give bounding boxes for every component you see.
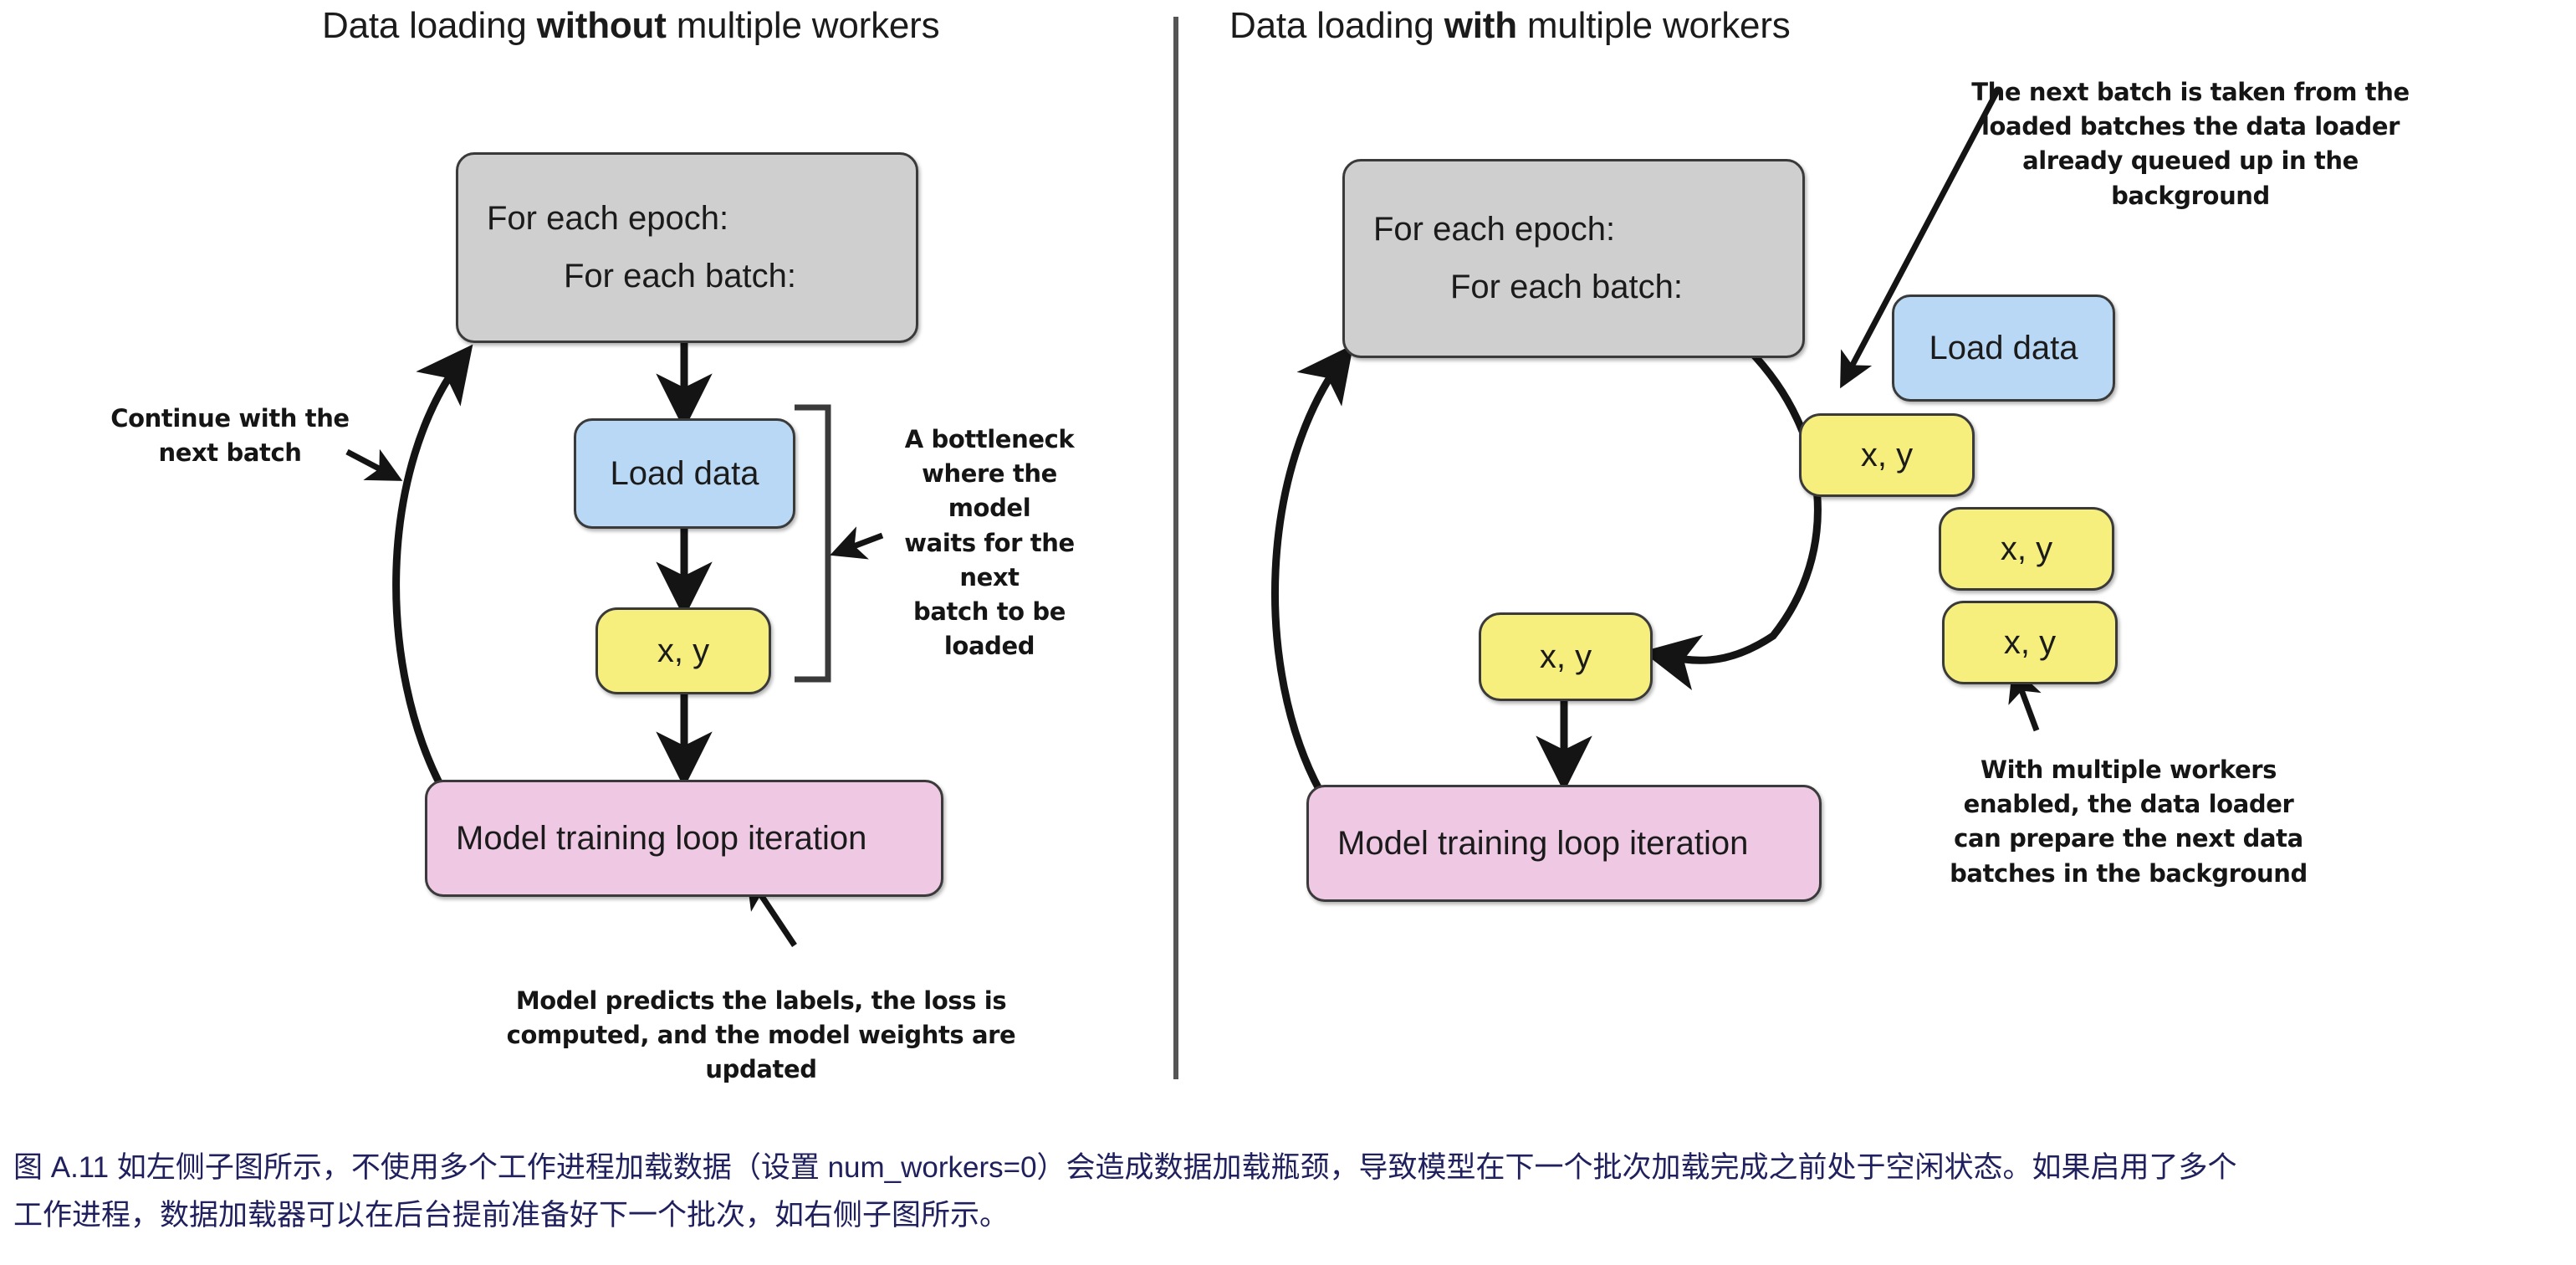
panel-title-right: Data loading with multiple workers <box>1229 5 1791 47</box>
right-queued-batch-box-1: x, y <box>1799 413 1975 497</box>
left-train-box: Model training loop iteration <box>425 780 943 897</box>
panel-title-left-suffix: multiple workers <box>667 5 940 46</box>
right-queued-batch-box-2: x, y <box>1939 507 2114 591</box>
right-train-box: Model training loop iteration <box>1306 785 1822 902</box>
right-annotation-workers: With multiple workers enabled, the data … <box>1932 753 2325 891</box>
right-queued-batch-label-1: x, y <box>1861 437 1913 474</box>
bottleneck-bracket <box>795 407 828 679</box>
left-train-label: Model training loop iteration <box>456 820 866 858</box>
left-annotation-bottleneck: A bottleneck where the model waits for t… <box>893 423 1086 663</box>
right-loop-line-batch: For each batch: <box>1373 269 1774 306</box>
arrow-continue-loop <box>396 356 464 791</box>
right-active-batch-label: x, y <box>1540 638 1592 676</box>
right-train-label: Model training loop iteration <box>1337 825 1748 863</box>
right-annotation-next-batch: The next batch is taken from the loaded … <box>1949 75 2432 213</box>
panel-title-left-prefix: Data loading <box>322 5 537 46</box>
right-loop-line-epoch: For each epoch: <box>1373 211 1774 248</box>
arrow-bottleneck-label <box>838 535 882 552</box>
right-load-data-label: Load data <box>1929 330 2078 367</box>
arrow-continue-label <box>347 452 395 477</box>
left-batch-label: x, y <box>657 632 709 670</box>
right-active-batch-box: x, y <box>1479 612 1653 701</box>
panel-title-right-prefix: Data loading <box>1229 5 1444 46</box>
right-load-data-box: Load data <box>1892 294 2115 402</box>
panel-title-left: Data loading without multiple workers <box>322 5 939 47</box>
figure-caption-line-1: 图 A.11 如左侧子图所示，不使用多个工作进程加载数据（设置 num_work… <box>13 1145 2566 1192</box>
figure-caption: 图 A.11 如左侧子图所示，不使用多个工作进程加载数据（设置 num_work… <box>13 1145 2566 1239</box>
left-load-data-label: Load data <box>611 455 759 493</box>
right-queued-batch-label-3: x, y <box>2004 624 2056 662</box>
panel-title-right-emphasis: with <box>1444 5 1517 46</box>
left-load-data-box: Load data <box>574 418 795 529</box>
left-loop-line-epoch: For each epoch: <box>487 200 887 238</box>
left-annotation-continue: Continue with the next batch <box>109 402 351 470</box>
right-loop-box: For each epoch: For each batch: <box>1342 159 1805 358</box>
left-annotation-predict: Model predicts the labels, the loss is c… <box>452 984 1071 1088</box>
right-queued-batch-label-2: x, y <box>2001 530 2052 568</box>
left-loop-line-batch: For each batch: <box>487 258 887 295</box>
arrow-continue-loop-right <box>1275 356 1345 791</box>
panel-title-right-suffix: multiple workers <box>1517 5 1791 46</box>
figure-caption-line-2: 工作进程，数据加载器可以在后台提前准备好下一个批次，如右侧子图所示。 <box>13 1192 2566 1240</box>
arrow-loop-to-active-batch <box>1656 350 1817 660</box>
left-loop-box: For each epoch: For each batch: <box>456 152 918 343</box>
panel-title-left-emphasis: without <box>537 5 667 46</box>
left-batch-box: x, y <box>595 607 771 694</box>
figure-canvas: Data loading without multiple workers Fo… <box>0 0 2576 1104</box>
right-queued-batch-box-3: x, y <box>1942 601 2118 684</box>
